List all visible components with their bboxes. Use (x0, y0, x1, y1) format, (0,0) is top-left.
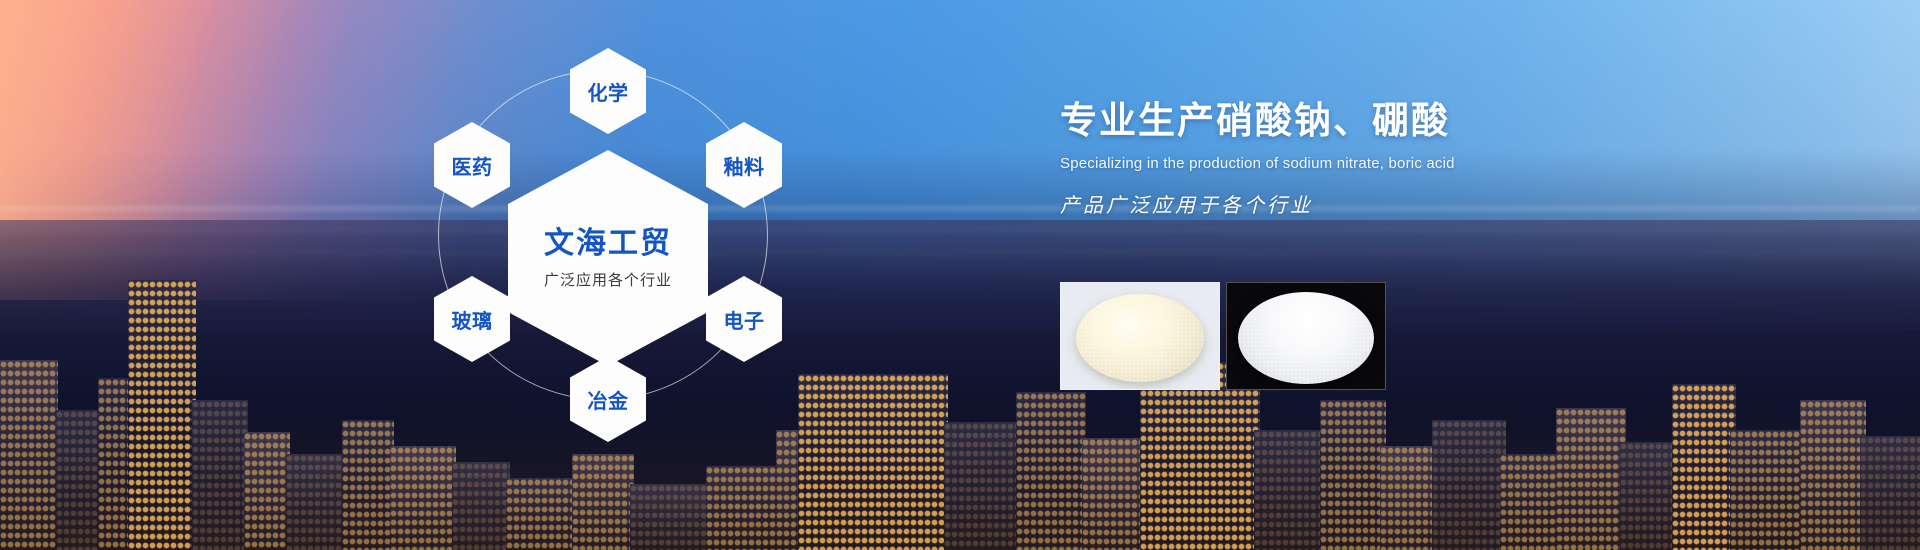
powder-pile (1238, 292, 1374, 384)
cityscape (0, 220, 1920, 550)
product-photo-white-powder[interactable] (1226, 282, 1386, 390)
building (1432, 420, 1506, 550)
hex-node-label: 玻璃 (452, 305, 493, 334)
building-tower (128, 280, 196, 550)
hex-node-label: 医药 (452, 151, 493, 180)
tagline: 产品广泛应用于各个行业 (1060, 189, 1760, 218)
building (1082, 438, 1146, 550)
building-lit-block (1140, 362, 1260, 550)
building (1860, 436, 1920, 550)
building (342, 420, 394, 550)
company-tagline: 广泛应用各个行业 (544, 269, 672, 290)
building (1254, 430, 1326, 550)
hex-node-label: 化学 (588, 77, 629, 106)
building (1016, 392, 1086, 550)
industry-hex-diagram: 化学 釉料 电子 冶金 玻璃 医药 文海工贸 广泛应用各个行业 (420, 18, 820, 478)
building (1320, 400, 1386, 550)
powder-pile (1076, 294, 1204, 382)
banner-copy: 专业生产硝酸钠、硼酸 Specializing in the productio… (1060, 100, 1760, 218)
building-tower (1672, 384, 1736, 550)
building (1380, 446, 1438, 550)
building (630, 484, 710, 550)
building (706, 466, 780, 550)
building (1800, 400, 1866, 550)
product-photo-cream-powder[interactable] (1060, 282, 1220, 390)
hex-node-label: 电子 (724, 305, 765, 334)
product-photo-group (1060, 282, 1386, 390)
company-name: 文海工贸 (544, 227, 672, 260)
building (56, 410, 100, 550)
building (286, 454, 346, 550)
headline-english: Specializing in the production of sodium… (1060, 155, 1760, 172)
building (0, 360, 58, 550)
building-lit-block (798, 374, 948, 550)
building (944, 422, 1022, 550)
building (1620, 442, 1678, 550)
building (506, 478, 576, 550)
building (1730, 430, 1808, 550)
powder-grain-texture (1076, 294, 1204, 382)
promo-banner: 化学 釉料 电子 冶金 玻璃 医药 文海工贸 广泛应用各个行业 专业生产硝酸钠、… (0, 0, 1920, 550)
hex-node-label: 冶金 (588, 385, 629, 414)
building (244, 432, 290, 550)
building (1500, 454, 1562, 550)
hex-node-label: 釉料 (724, 151, 765, 180)
headline: 专业生产硝酸钠、硼酸 (1060, 100, 1760, 143)
building (192, 400, 248, 550)
powder-grain-texture (1238, 292, 1374, 384)
building (1556, 408, 1626, 550)
